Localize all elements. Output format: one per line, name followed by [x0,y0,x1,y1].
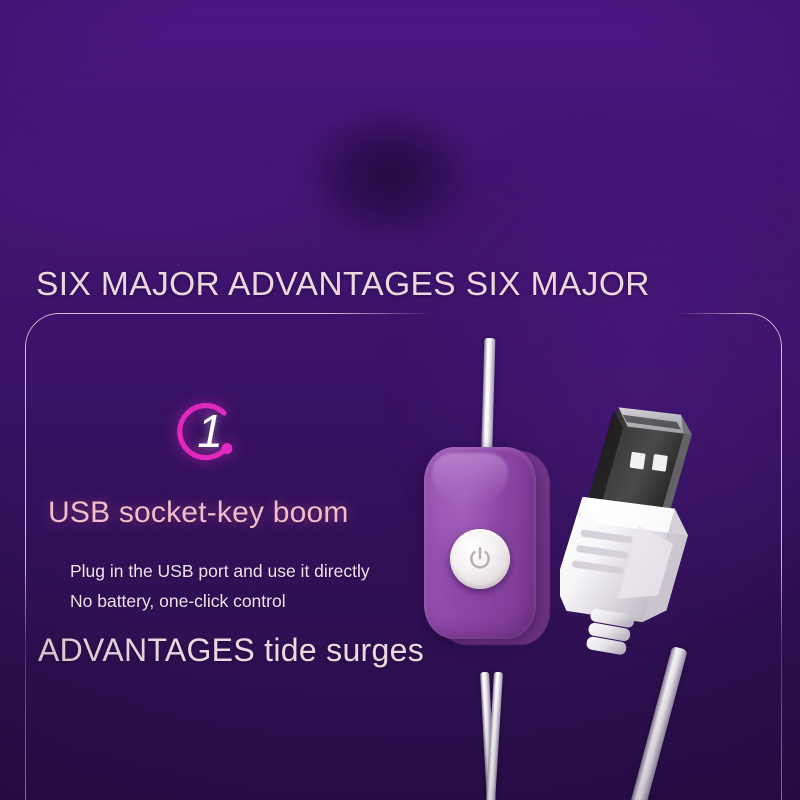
page-title: SIX MAJOR ADVANTAGES SIX MAJOR [36,266,650,304]
device-highlight [432,453,508,507]
step-badge-1: 1 [168,396,242,470]
badge-number-label: 1 [168,396,242,470]
usb-controller-device [424,447,549,645]
page-subtitle: ADVANTAGES tide surges [38,632,424,669]
feature-bullet-1: Plug in the USB port and use it directly [70,561,370,582]
usb-connector-icon [560,398,740,668]
banner-canvas: SIX MAJOR ADVANTAGES SIX MAJOR 1 USB soc… [0,0,800,800]
device-body [424,447,536,639]
feature-bullet-2: No battery, one-click control [70,591,286,612]
power-icon [465,544,495,574]
power-button[interactable] [450,529,510,589]
feature-heading: USB socket-key boom [48,496,349,530]
